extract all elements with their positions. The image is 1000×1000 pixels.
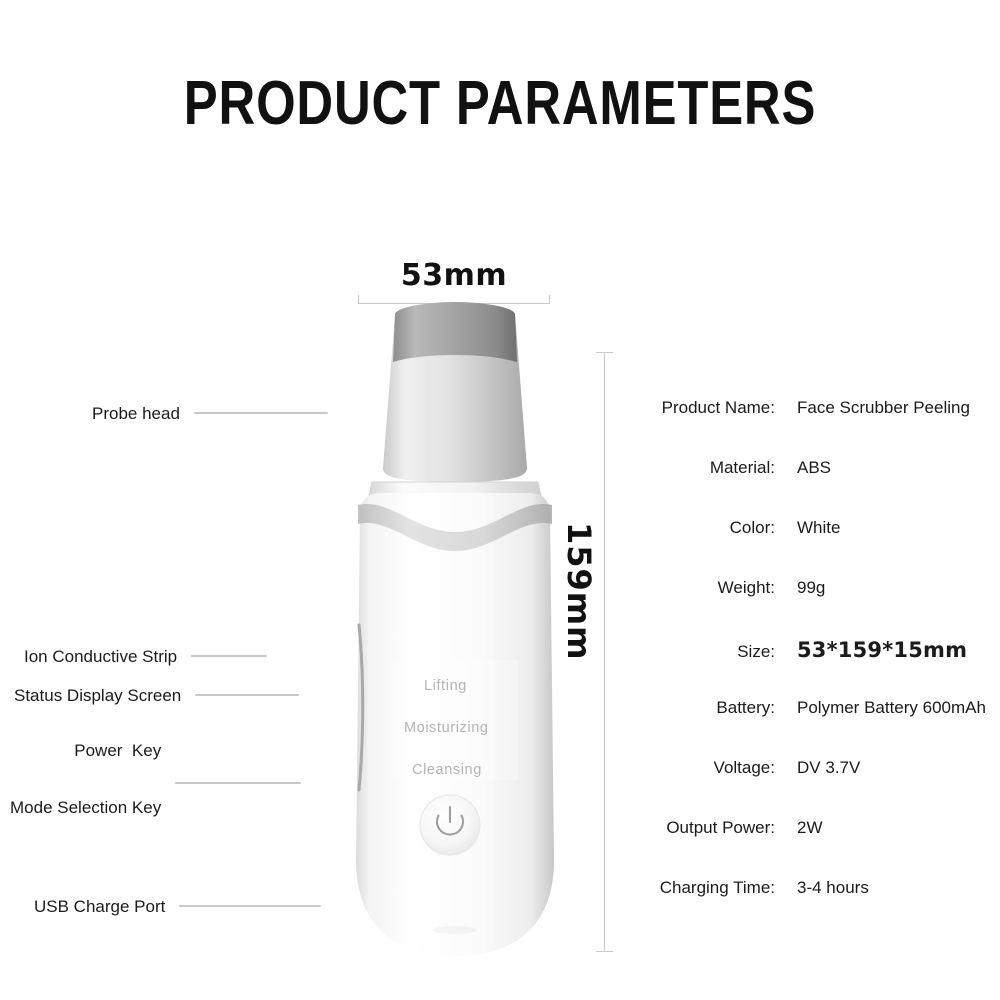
spec-row-output-power: Output Power: 2W [620, 818, 1000, 878]
callout-label-probe-head: Probe head [92, 404, 180, 423]
leader-line-status-display-screen [195, 694, 299, 696]
spec-label-material: Material: [620, 458, 775, 478]
spec-value-weight: 99g [797, 578, 825, 598]
spec-label-product-name: Product Name: [620, 398, 775, 418]
callout-usb-charge-port: USB Charge Port [34, 895, 321, 917]
spec-row-weight: Weight: 99g [620, 578, 1000, 638]
spec-row-battery: Battery: Polymer Battery 600mAh [620, 698, 1000, 758]
callout-label-ion-conductive-strip: Ion Conductive Strip [24, 647, 177, 666]
spec-label-size: Size: [620, 642, 775, 662]
spec-table: Product Name: Face Scrubber Peeling Mate… [620, 398, 1000, 938]
callout-label-power-key: Power Key [10, 741, 161, 760]
spec-row-voltage: Voltage: DV 3.7V [620, 758, 1000, 818]
callout-probe-head: Probe head [92, 402, 328, 424]
spec-value-color: White [797, 518, 840, 538]
spec-value-voltage: DV 3.7V [797, 758, 860, 778]
probe-head-top-band [393, 302, 517, 362]
callout-ion-conductive-strip: Ion Conductive Strip [24, 645, 267, 667]
device-illustration: Lifting Moisturizing Cleansing [320, 300, 590, 970]
spec-label-color: Color: [620, 518, 775, 538]
dimension-width-label: 53mm [358, 258, 550, 293]
spec-row-product-name: Product Name: Face Scrubber Peeling [620, 398, 1000, 458]
mode-label-moisturizing: Moisturizing [404, 720, 489, 736]
usb-charge-port [433, 926, 477, 934]
spec-label-output-power: Output Power: [620, 818, 775, 838]
spec-row-color: Color: White [620, 518, 1000, 578]
spec-row-size: Size: 53*159*15mm [620, 638, 1000, 698]
device-svg [320, 300, 590, 970]
dimension-height-cap-bottom [596, 951, 613, 952]
leader-line-usb-charge-port [179, 905, 321, 907]
spec-row-charging-time: Charging Time: 3-4 hours [620, 878, 1000, 938]
leader-line-ion-conductive-strip [191, 655, 267, 657]
callout-label-usb-charge-port: USB Charge Port [34, 897, 165, 916]
spec-value-product-name: Face Scrubber Peeling [797, 398, 970, 418]
spec-value-output-power: 2W [797, 818, 823, 838]
callout-label-power-mode-key: Power Key Mode Selection Key [10, 703, 161, 855]
dimension-height-line [604, 352, 605, 952]
callout-power-mode-key: Power Key Mode Selection Key [10, 762, 301, 796]
spec-row-material: Material: ABS [620, 458, 1000, 518]
leader-line-power-mode-key [175, 782, 301, 784]
spec-value-charging-time: 3-4 hours [797, 878, 869, 898]
page-title: PRODUCT PARAMETERS [90, 68, 910, 139]
spec-label-weight: Weight: [620, 578, 775, 598]
callout-label-status-display-screen: Status Display Screen [14, 686, 181, 705]
dimension-height-cap-top [596, 352, 613, 353]
mode-label-lifting: Lifting [424, 678, 467, 694]
spec-label-battery: Battery: [620, 698, 775, 718]
spec-value-size: 53*159*15mm [797, 638, 967, 662]
spec-value-material: ABS [797, 458, 831, 478]
mode-label-cleansing: Cleansing [412, 762, 482, 778]
leader-line-probe-head [194, 412, 328, 414]
spec-value-battery: Polymer Battery 600mAh [797, 698, 986, 718]
spec-label-charging-time: Charging Time: [620, 878, 775, 898]
spec-label-voltage: Voltage: [620, 758, 775, 778]
product-parameters-page: PRODUCT PARAMETERS Probe head Ion Conduc… [0, 0, 1000, 1000]
callout-label-mode-selection-key: Mode Selection Key [10, 798, 161, 817]
